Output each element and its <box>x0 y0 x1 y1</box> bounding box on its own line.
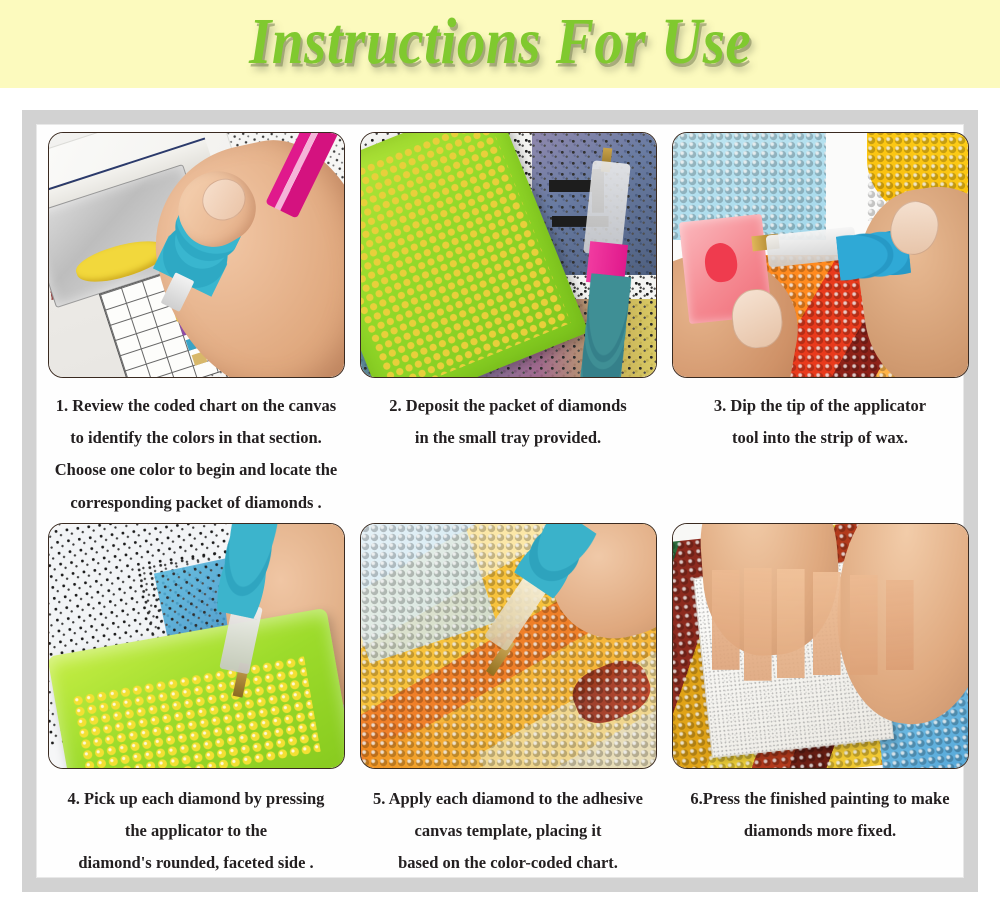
step-caption-4: 4. Pick up each diamond by pressing the … <box>46 783 346 880</box>
step-item-1: 1. Review the coded chart on the canvas … <box>40 130 352 521</box>
step-caption-6: 6.Press the finished painting to make di… <box>670 783 970 847</box>
step-item-4: 4. Pick up each diamond by pressing the … <box>40 521 352 882</box>
page-title: Instructions For Use <box>249 9 751 80</box>
photo-review-coded-chart <box>48 132 345 378</box>
step-item-5: 5. Apply each diamond to the adhesive ca… <box>352 521 664 882</box>
photo6-fingers <box>708 568 938 729</box>
step-item-3: 3. Dip the tip of the applicator tool in… <box>664 130 976 521</box>
photo-pick-up-diamond <box>48 523 345 769</box>
photo2-teal-foam-grip <box>570 272 640 377</box>
photo-dip-applicator-wax <box>672 132 969 378</box>
step-caption-1: 1. Review the coded chart on the canvas … <box>46 390 346 519</box>
step-caption-2: 2. Deposit the packet of diamonds in the… <box>358 390 658 454</box>
header-banner: Instructions For Use <box>0 0 1000 88</box>
photo-press-finished-painting <box>672 523 969 769</box>
photo-apply-diamond-canvas <box>360 523 657 769</box>
steps-grid: 1. Review the coded chart on the canvas … <box>36 124 964 878</box>
instructions-frame-inner: 1. Review the coded chart on the canvas … <box>36 124 964 878</box>
step-item-6: 6.Press the finished painting to make di… <box>664 521 976 882</box>
step-caption-5: 5. Apply each diamond to the adhesive ca… <box>358 783 658 880</box>
photo-deposit-diamonds-tray <box>360 132 657 378</box>
step-caption-3: 3. Dip the tip of the applicator tool in… <box>670 390 970 454</box>
instructions-frame: 1. Review the coded chart on the canvas … <box>22 110 978 892</box>
step-item-2: 2. Deposit the packet of diamonds in the… <box>352 130 664 521</box>
